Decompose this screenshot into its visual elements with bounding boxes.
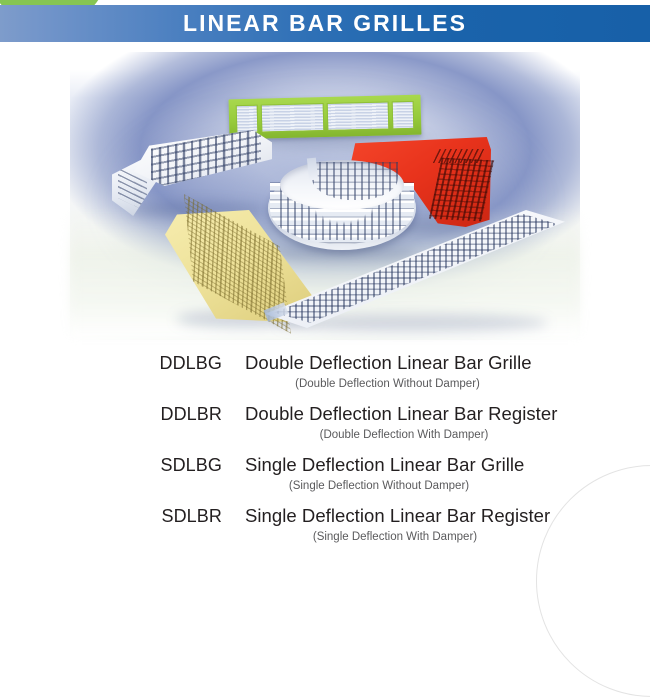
ring-seam-gap	[307, 158, 318, 181]
page-title: LINEAR BAR GRILLES	[0, 5, 650, 42]
product-code: DDLBG	[0, 353, 222, 374]
grille-slot	[260, 103, 324, 133]
green-grille-slots	[236, 101, 415, 133]
product-description: Single Deflection Linear Bar Grille	[245, 454, 524, 476]
row-spacer	[0, 492, 650, 505]
white-long-linear-bar-grille	[265, 210, 565, 328]
product-note: (Double Deflection With Damper)	[245, 429, 563, 441]
product-description: Double Deflection Linear Bar Register	[245, 403, 557, 425]
row-spacer	[0, 390, 650, 403]
product-row-sdlbg: SDLBG Single Deflection Linear Bar Grill…	[0, 454, 650, 492]
product-row-ddlbg: DDLBG Double Deflection Linear Bar Grill…	[0, 352, 650, 390]
product-description: Double Deflection Linear Bar Grille	[245, 352, 532, 374]
page-header: LINEAR BAR GRILLES	[0, 0, 650, 48]
grille-mesh-pattern	[151, 127, 261, 188]
long-grille-mesh-pattern	[265, 210, 565, 328]
product-row-ddlbr: DDLBR Double Deflection Linear Bar Regis…	[0, 403, 650, 441]
product-row-main: SDLBG Single Deflection Linear Bar Grill…	[0, 454, 650, 476]
product-row-main: DDLBR Double Deflection Linear Bar Regis…	[0, 403, 650, 425]
grille-slot	[236, 105, 258, 134]
product-code: DDLBR	[0, 404, 222, 425]
product-note: (Double Deflection Without Damper)	[245, 378, 530, 390]
product-code: SDLBR	[0, 506, 222, 527]
product-note: (Single Deflection Without Damper)	[245, 480, 513, 492]
product-row-main: DDLBG Double Deflection Linear Bar Grill…	[0, 352, 650, 374]
product-list: DDLBG Double Deflection Linear Bar Grill…	[0, 352, 650, 543]
row-spacer	[0, 441, 650, 454]
product-code: SDLBG	[0, 455, 222, 476]
product-photo	[70, 52, 580, 340]
product-description: Single Deflection Linear Bar Register	[245, 505, 550, 527]
grille-slot	[326, 101, 390, 131]
product-note: (Single Deflection With Damper)	[245, 531, 545, 543]
grille-main-face	[134, 130, 272, 186]
grille-slot	[392, 101, 414, 130]
